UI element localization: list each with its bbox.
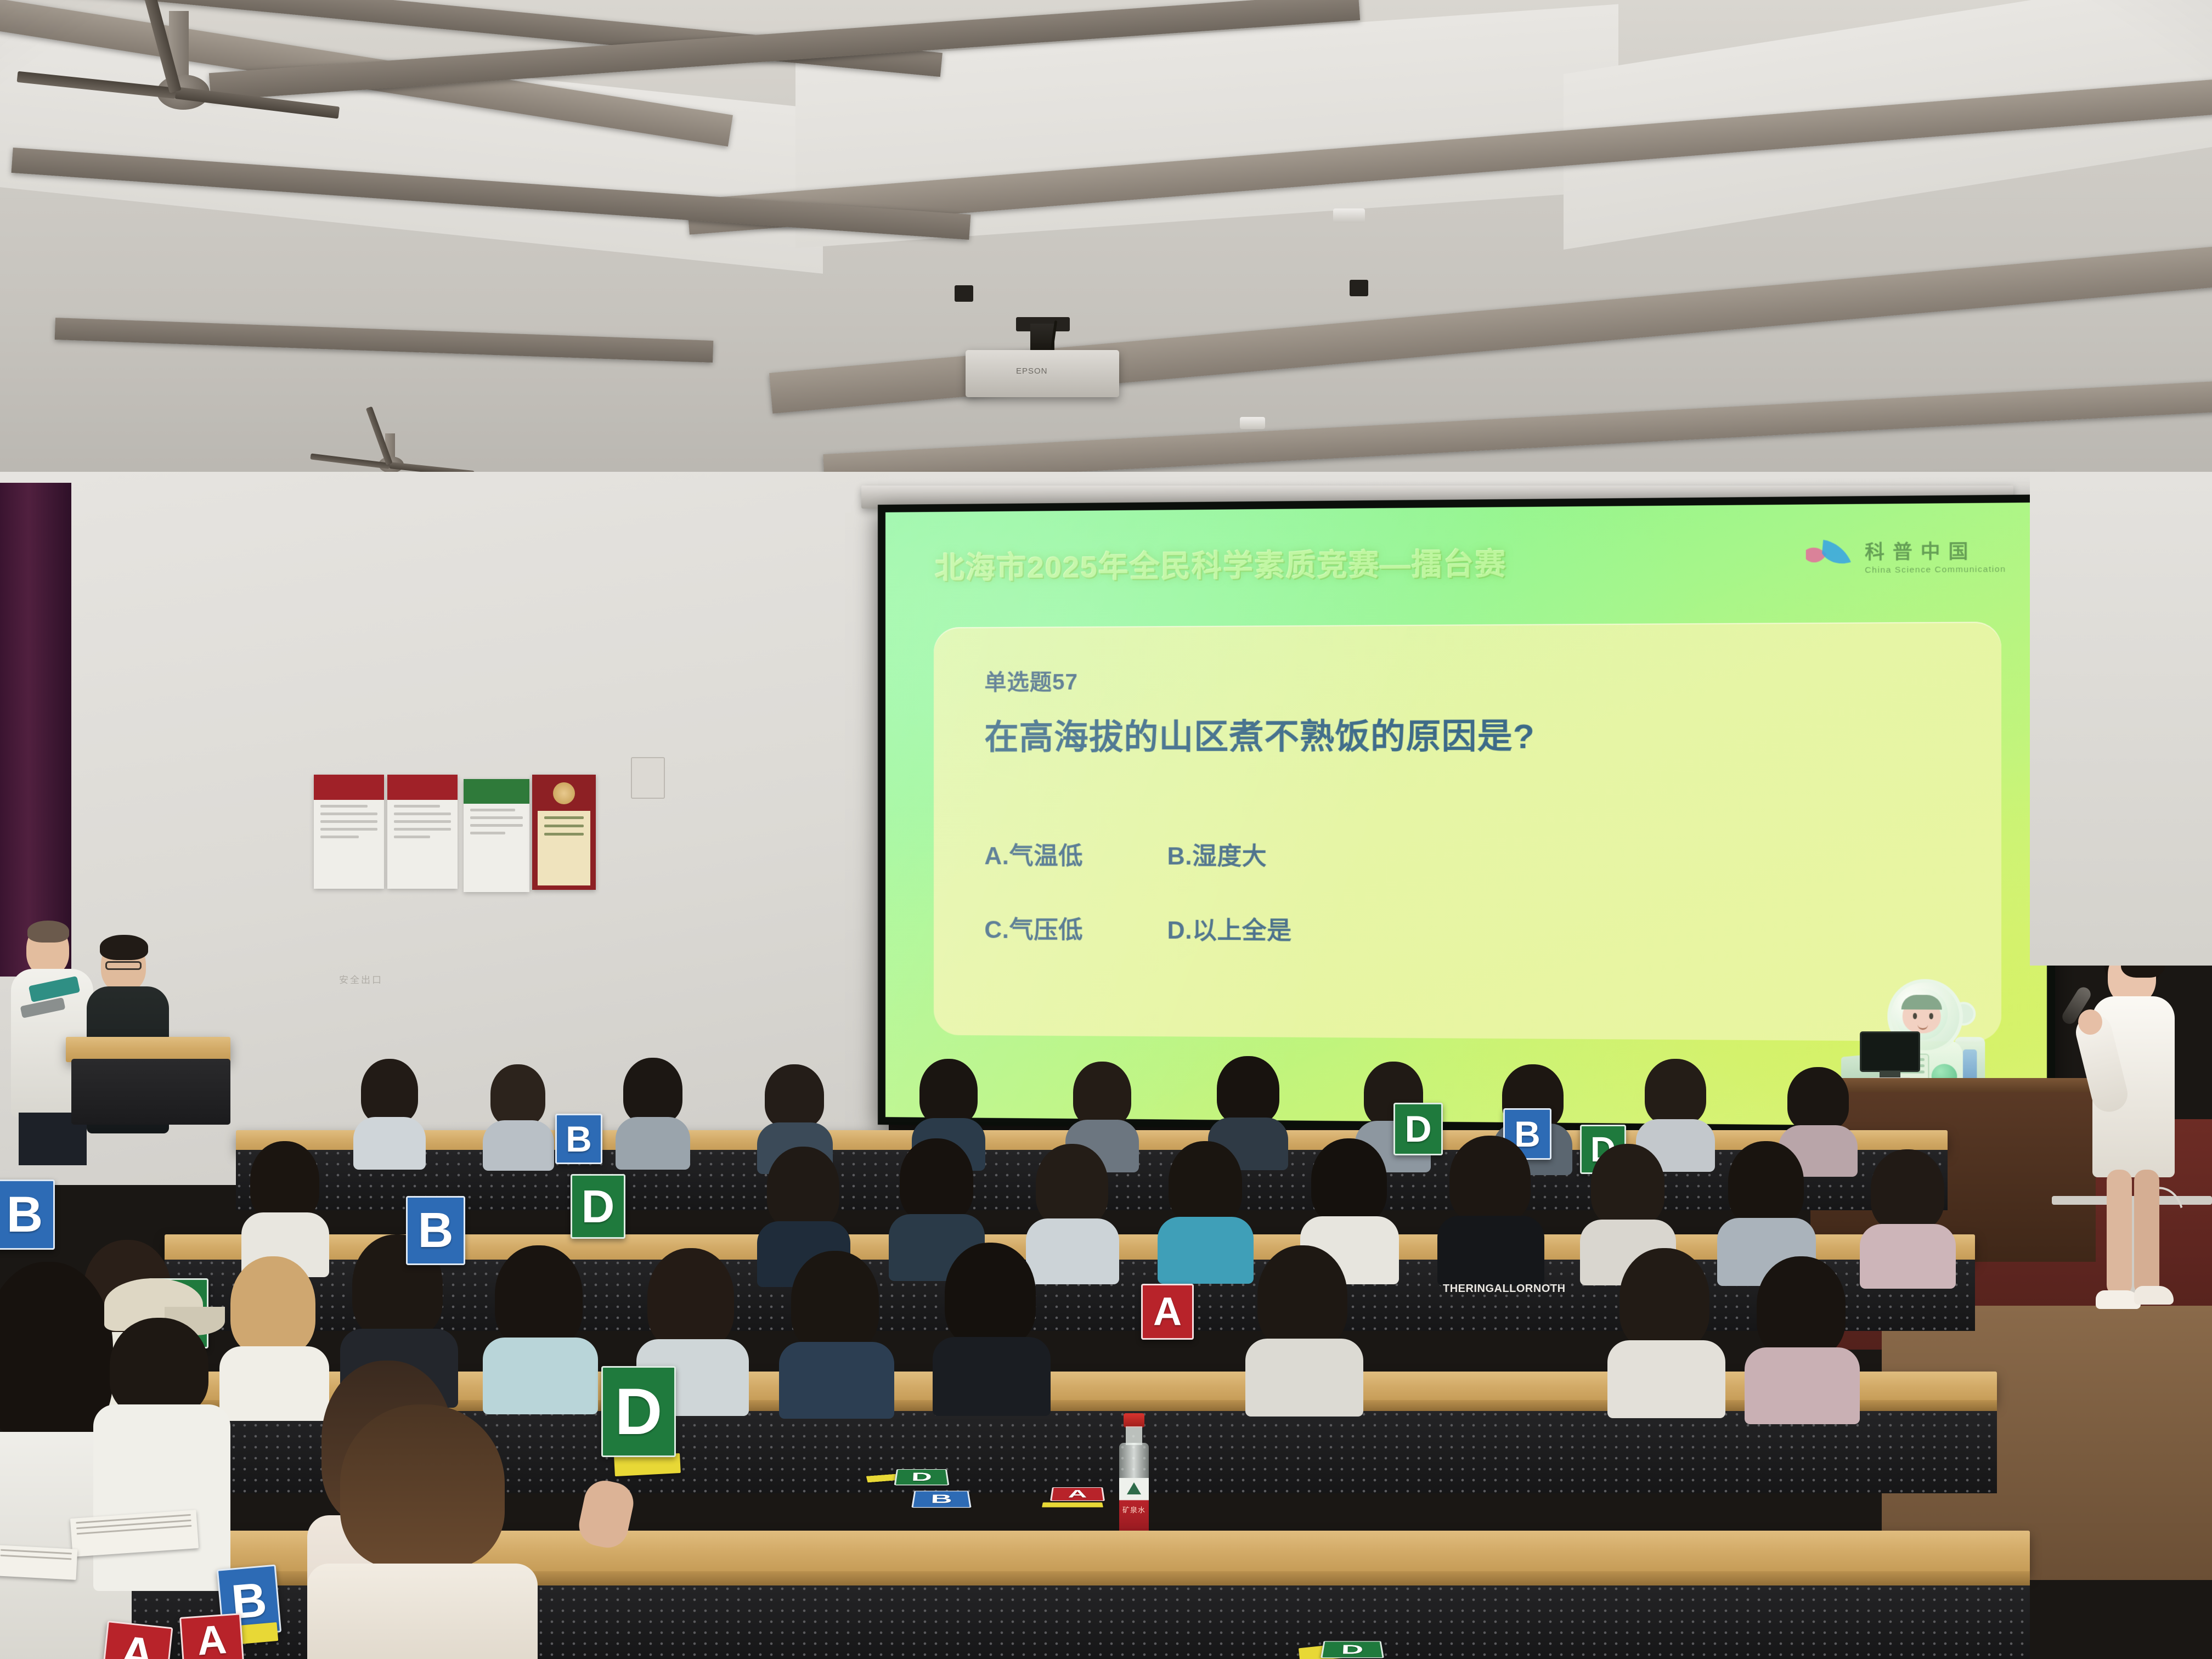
smoke-detector — [1333, 208, 1365, 223]
hair — [1757, 1256, 1846, 1357]
hair — [623, 1058, 682, 1124]
brand-name-en: China Science Communication — [1865, 565, 2006, 575]
option-c[interactable]: C.气压低 — [984, 910, 1150, 946]
answer-card-raised[interactable]: B — [406, 1196, 465, 1265]
bird-wing-logo-icon — [1804, 537, 1857, 574]
bottle-neck — [1126, 1426, 1142, 1445]
security-camera — [955, 285, 973, 302]
ceiling-speaker — [1240, 417, 1265, 429]
torso — [933, 1337, 1051, 1416]
ceiling-fan — [38, 11, 368, 132]
paper-sheet — [0, 1545, 77, 1580]
answer-card-on-desk[interactable]: D — [894, 1469, 950, 1485]
notice-line — [470, 824, 523, 827]
wall-certificate — [532, 775, 596, 890]
notice-line — [394, 812, 451, 815]
hair — [1169, 1141, 1242, 1224]
answer-card-on-desk[interactable]: A — [179, 1613, 244, 1659]
hair — [765, 1064, 824, 1128]
mascot-eye — [1913, 1013, 1917, 1019]
notice-header — [464, 779, 529, 804]
notice-line — [470, 809, 515, 811]
wall-sign: 安全出口 — [339, 972, 383, 986]
torso — [616, 1117, 690, 1170]
hair — [1073, 1062, 1131, 1126]
hair — [1591, 1144, 1664, 1226]
fan-blade — [17, 71, 177, 99]
hair — [945, 1243, 1036, 1347]
hair — [490, 1064, 545, 1126]
certificate-seal — [553, 782, 575, 804]
bottle-brand-text: 矿泉水 — [1117, 1504, 1151, 1515]
option-b[interactable]: B.湿度大 — [1167, 836, 1291, 872]
brand-name-cn: 科普中国 — [1865, 535, 2006, 564]
audience-member — [241, 1141, 329, 1273]
answer-card-on-desk[interactable]: A — [1050, 1487, 1105, 1501]
hair — [110, 1318, 208, 1417]
wall-notice — [314, 775, 384, 889]
audience-member — [933, 1243, 1051, 1413]
notice-line — [394, 828, 451, 831]
ceiling-projector: EPSON — [966, 324, 1130, 406]
stage-monitor — [1860, 1031, 1920, 1082]
audience-member — [483, 1064, 554, 1163]
hair — [1620, 1248, 1709, 1350]
notice-line — [394, 805, 440, 808]
torso — [1245, 1339, 1363, 1417]
audience-member: THERINGALLORNOTH — [1437, 1136, 1544, 1284]
hair — [1036, 1144, 1108, 1226]
answer-card-on-desk[interactable]: D — [1321, 1641, 1384, 1658]
wall-switch-box[interactable] — [631, 757, 665, 799]
hair — [230, 1256, 315, 1355]
front-row-seatback — [0, 1585, 2030, 1659]
hair — [100, 935, 148, 960]
answer-card-raised[interactable]: D — [601, 1366, 676, 1457]
brand-text: 科普中国 China Science Communication — [1865, 535, 2006, 575]
wall-notice — [464, 779, 529, 892]
hair — [1449, 1136, 1531, 1223]
hair — [250, 1141, 319, 1221]
torso — [1607, 1340, 1725, 1418]
glasses-icon — [105, 961, 142, 970]
hair — [340, 1404, 505, 1569]
right-wall — [2030, 472, 2212, 966]
torso — [1860, 1224, 1956, 1289]
hair — [767, 1147, 839, 1229]
hair — [1728, 1141, 1804, 1226]
presenter-shoe — [2134, 1286, 2174, 1305]
hair — [647, 1248, 734, 1349]
notice-line — [320, 836, 359, 838]
answer-card-raised[interactable]: B — [555, 1114, 602, 1164]
torso — [1158, 1217, 1254, 1284]
notice-line — [320, 812, 377, 815]
audience-member — [1158, 1141, 1254, 1281]
lecture-hall-photo: EPSON 安全出口 — [0, 0, 2212, 1659]
hair — [791, 1251, 879, 1352]
audience-member — [1245, 1245, 1363, 1413]
hair — [1645, 1059, 1706, 1125]
answer-card-on-desk[interactable]: A — [101, 1621, 173, 1659]
answer-card-raised[interactable]: A — [1141, 1284, 1194, 1340]
notice-line — [320, 820, 377, 823]
torso — [1437, 1216, 1544, 1286]
notice-line — [470, 832, 505, 834]
mascot-eye — [1929, 1013, 1933, 1019]
hair — [1257, 1245, 1347, 1348]
hair — [919, 1059, 978, 1125]
bench-seat — [71, 1059, 230, 1125]
notice-line — [394, 820, 451, 823]
brand-logo: 科普中国 China Science Communication — [1804, 535, 2006, 575]
notice-line — [320, 805, 368, 808]
hair — [361, 1059, 418, 1124]
torso — [307, 1564, 538, 1659]
torso — [1745, 1347, 1860, 1424]
notice-header — [314, 775, 384, 800]
answer-card-raised[interactable]: D — [1393, 1103, 1443, 1155]
monitor-screen — [1860, 1031, 1920, 1072]
presenter-leg — [2107, 1170, 2132, 1296]
bottle-logo-icon — [1127, 1482, 1141, 1494]
presenter-leg — [2134, 1170, 2159, 1296]
option-a[interactable]: A.气温低 — [984, 836, 1150, 872]
option-d[interactable]: D.以上全是 — [1167, 910, 1291, 946]
answer-card-handle — [1042, 1503, 1103, 1508]
hair — [495, 1245, 583, 1347]
hair — [27, 921, 69, 943]
options-grid: A.气温低 B.湿度大 C.气压低 D.以上全是 — [984, 836, 1291, 946]
security-camera — [1350, 280, 1368, 296]
projector-brand-label: EPSON — [1016, 366, 1048, 376]
hair — [1787, 1067, 1849, 1131]
presenter — [2074, 933, 2212, 1404]
notice-line — [470, 816, 523, 819]
side-curtain — [0, 483, 71, 977]
audience-member-foreground — [307, 1404, 538, 1659]
audience-member — [483, 1245, 598, 1410]
audience-member — [1745, 1256, 1860, 1421]
audience-member — [1607, 1248, 1725, 1415]
projector-body: EPSON — [966, 350, 1119, 397]
hair — [900, 1138, 973, 1222]
audience-member — [351, 1059, 428, 1163]
question-number: 单选题57 — [984, 664, 1078, 696]
torso — [353, 1117, 426, 1170]
torso — [779, 1342, 894, 1419]
slide-banner-title: 北海市2025年全民科学素质竞赛—擂台赛 — [935, 539, 1506, 587]
torso — [483, 1338, 598, 1414]
notice-header — [387, 775, 458, 800]
audience-member — [1860, 1149, 1956, 1286]
answer-card-raised[interactable]: B — [0, 1180, 55, 1250]
bottle-cap — [1124, 1413, 1144, 1427]
answer-card-raised[interactable]: D — [571, 1174, 625, 1239]
torso — [483, 1120, 554, 1171]
answer-card-on-desk[interactable]: B — [911, 1491, 971, 1508]
question-text: 在高海拔的山区煮不熟饭的原因是? — [984, 708, 1535, 759]
wall-notice — [387, 775, 458, 889]
torso — [93, 1404, 230, 1591]
hair — [1217, 1056, 1279, 1124]
fan-blade — [310, 453, 390, 469]
shirt-text: THERINGALLORNOTH — [1443, 1283, 1566, 1295]
audience-member — [779, 1251, 894, 1415]
notice-line — [320, 828, 377, 831]
front-row-desk — [0, 1531, 2030, 1575]
hair — [1871, 1149, 1944, 1231]
notice-line — [394, 836, 430, 838]
certificate-plate — [538, 811, 590, 885]
hair — [1311, 1138, 1387, 1224]
audience-member — [614, 1058, 691, 1162]
presenter-hand — [2078, 1009, 2102, 1035]
